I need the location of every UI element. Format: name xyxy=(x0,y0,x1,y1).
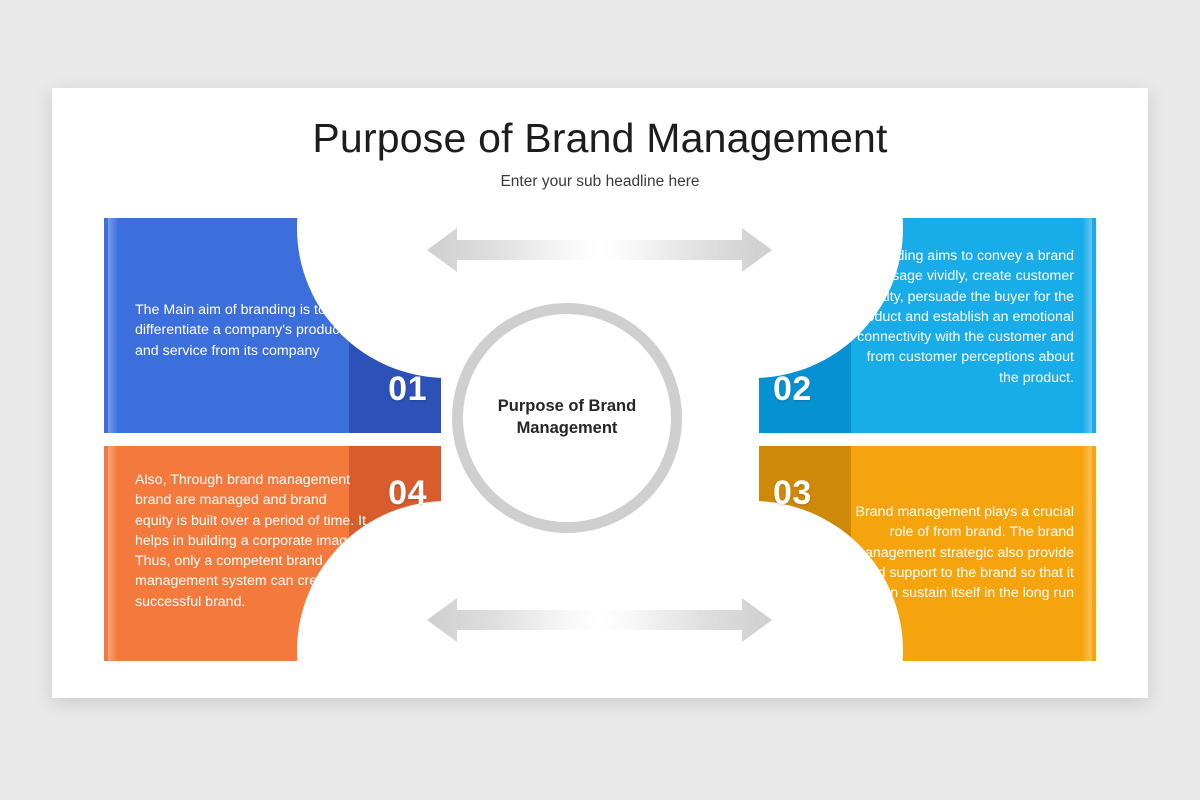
panel-01-number: 01 xyxy=(388,370,427,409)
panel-01[interactable]: The Main aim of branding is to different… xyxy=(104,218,441,433)
double-headed-arrow-bottom-icon xyxy=(427,596,772,644)
panel-03-number: 03 xyxy=(773,474,812,513)
panel-02-text: Branding aims to convey a brand message … xyxy=(846,246,1074,388)
panel-03-edge-sheen xyxy=(1082,446,1092,661)
panel-04-edge-sheen xyxy=(108,446,118,661)
panel-02[interactable]: Branding aims to convey a brand message … xyxy=(759,218,1096,433)
brand-management-diagram: The Main aim of branding is to different… xyxy=(52,88,1148,698)
panel-04-text: Also, Through brand management brand are… xyxy=(135,470,367,612)
panel-01-edge-sheen xyxy=(108,218,118,433)
panel-03-text: Brand management plays a crucial role of… xyxy=(846,502,1074,603)
panel-04-number: 04 xyxy=(388,474,427,513)
panel-02-edge-sheen xyxy=(1082,218,1092,433)
center-label: Purpose of Brand Management xyxy=(480,395,654,439)
slide-card: Purpose of Brand Management Enter your s… xyxy=(52,88,1148,698)
panel-04[interactable]: Also, Through brand management brand are… xyxy=(104,446,441,661)
double-headed-arrow-top-icon xyxy=(427,226,772,274)
center-hub[interactable]: Purpose of Brand Management xyxy=(452,303,682,533)
panel-01-text: The Main aim of branding is to different… xyxy=(135,300,367,361)
panel-03[interactable]: Brand management plays a crucial role of… xyxy=(759,446,1096,661)
panel-02-number: 02 xyxy=(773,370,812,409)
